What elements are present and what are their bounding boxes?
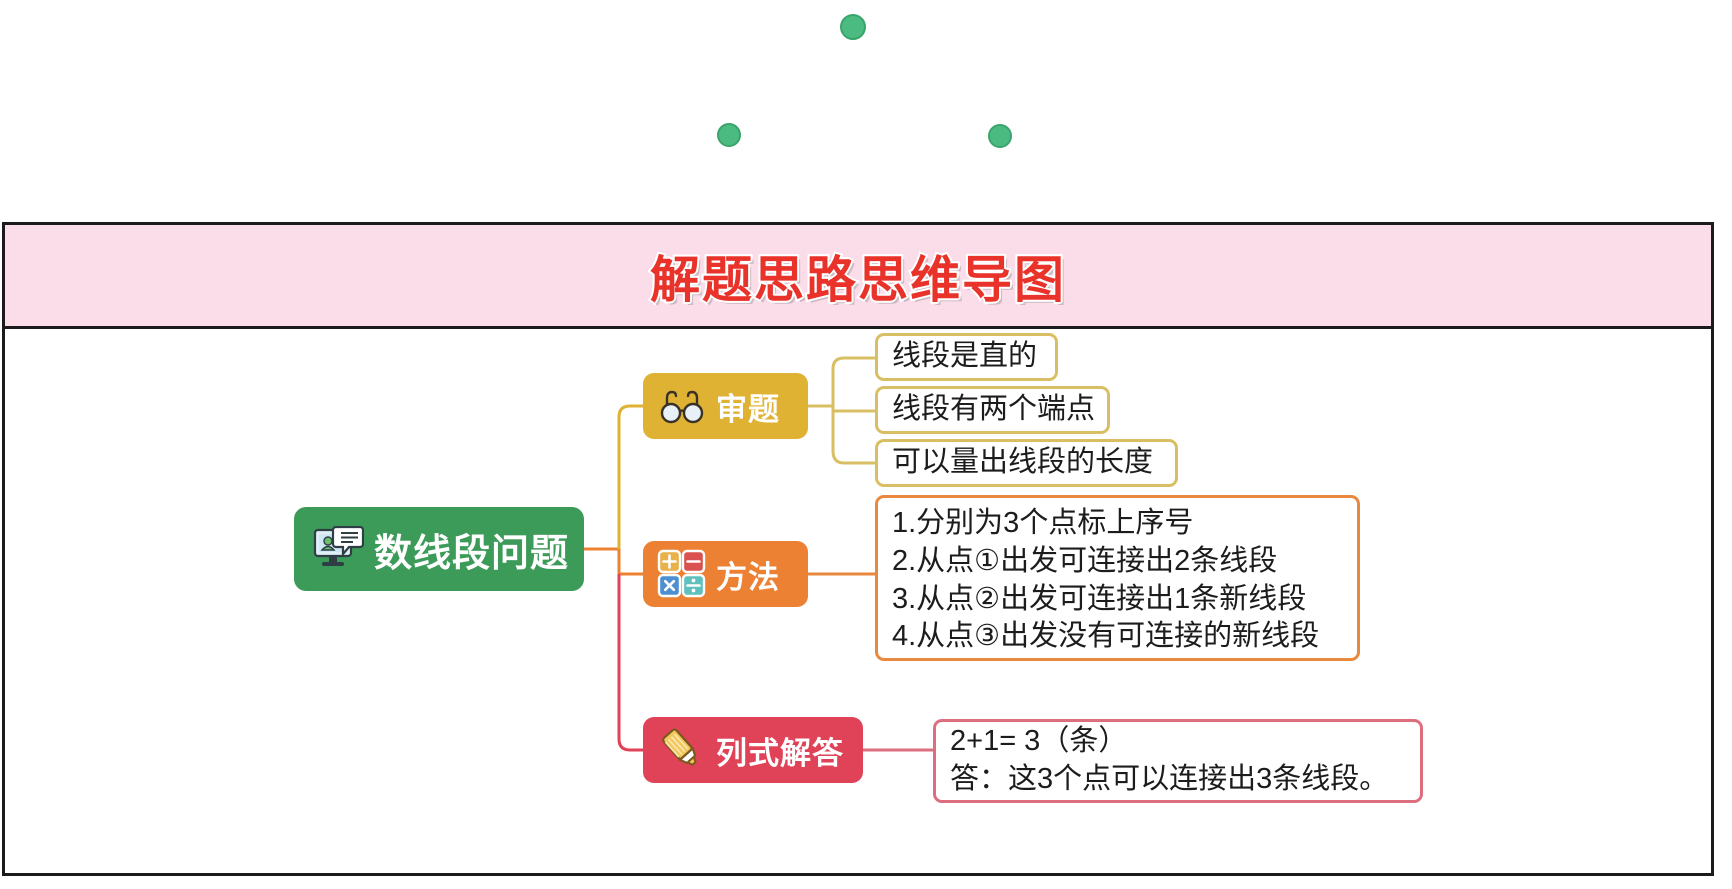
glasses-icon — [657, 386, 707, 426]
leaf-text: 4.从点③出发没有可连接的新线段 — [892, 618, 1319, 656]
leaf-shenti-3[interactable]: 可以量出线段的长度 — [875, 439, 1178, 487]
leaf-liesi-answer[interactable]: 2+1= 3（条） 答：这3个点可以连接出3条线段。 — [933, 719, 1423, 803]
mindmap-body: 数线段问题 审题 线段是直的 线段有两个 — [5, 329, 1711, 876]
leaf-text: 2.从点①出发可连接出2条线段 — [892, 543, 1277, 581]
root-node[interactable]: 数线段问题 — [294, 507, 584, 591]
highlighter-pen-icon — [657, 725, 707, 775]
calculator-keys-icon — [657, 549, 707, 599]
leaf-shenti-1[interactable]: 线段是直的 — [875, 333, 1058, 381]
branch-label-shenti: 审题 — [716, 384, 780, 429]
leaf-text: 线段有两个端点 — [892, 391, 1095, 429]
branch-label-fangfa: 方法 — [716, 552, 780, 597]
page-title: 解题思路思维导图 — [650, 240, 1066, 312]
mindmap-canvas: 解题思路思维导图 — [0, 0, 1732, 889]
monitor-chat-icon — [312, 526, 364, 572]
leaf-text: 3.从点②出发可连接出1条新线段 — [892, 581, 1306, 619]
green-dot-right — [988, 124, 1012, 148]
leaf-text: 1.分别为3个点标上序号 — [892, 505, 1193, 543]
connector-lines — [5, 329, 1711, 876]
leaf-text: 线段是直的 — [892, 338, 1037, 376]
leaf-text: 2+1= 3（条） — [950, 723, 1127, 761]
mindmap-card: 解题思路思维导图 — [2, 222, 1714, 876]
leaf-text: 可以量出线段的长度 — [892, 444, 1153, 482]
leaf-shenti-2[interactable]: 线段有两个端点 — [875, 386, 1110, 434]
branch-node-fangfa[interactable]: 方法 — [643, 541, 808, 607]
title-bar: 解题思路思维导图 — [5, 225, 1711, 329]
leaf-text: 答：这3个点可以连接出3条线段。 — [950, 761, 1388, 799]
green-dot-left — [717, 123, 741, 147]
branch-node-liesi[interactable]: 列式解答 — [643, 717, 863, 783]
branch-label-liesi: 列式解答 — [716, 728, 844, 773]
leaf-fangfa-steps[interactable]: 1.分别为3个点标上序号 2.从点①出发可连接出2条线段 3.从点②出发可连接出… — [875, 495, 1360, 661]
green-dot-top — [840, 14, 866, 40]
root-node-label: 数线段问题 — [374, 522, 569, 577]
branch-node-shenti[interactable]: 审题 — [643, 373, 808, 439]
